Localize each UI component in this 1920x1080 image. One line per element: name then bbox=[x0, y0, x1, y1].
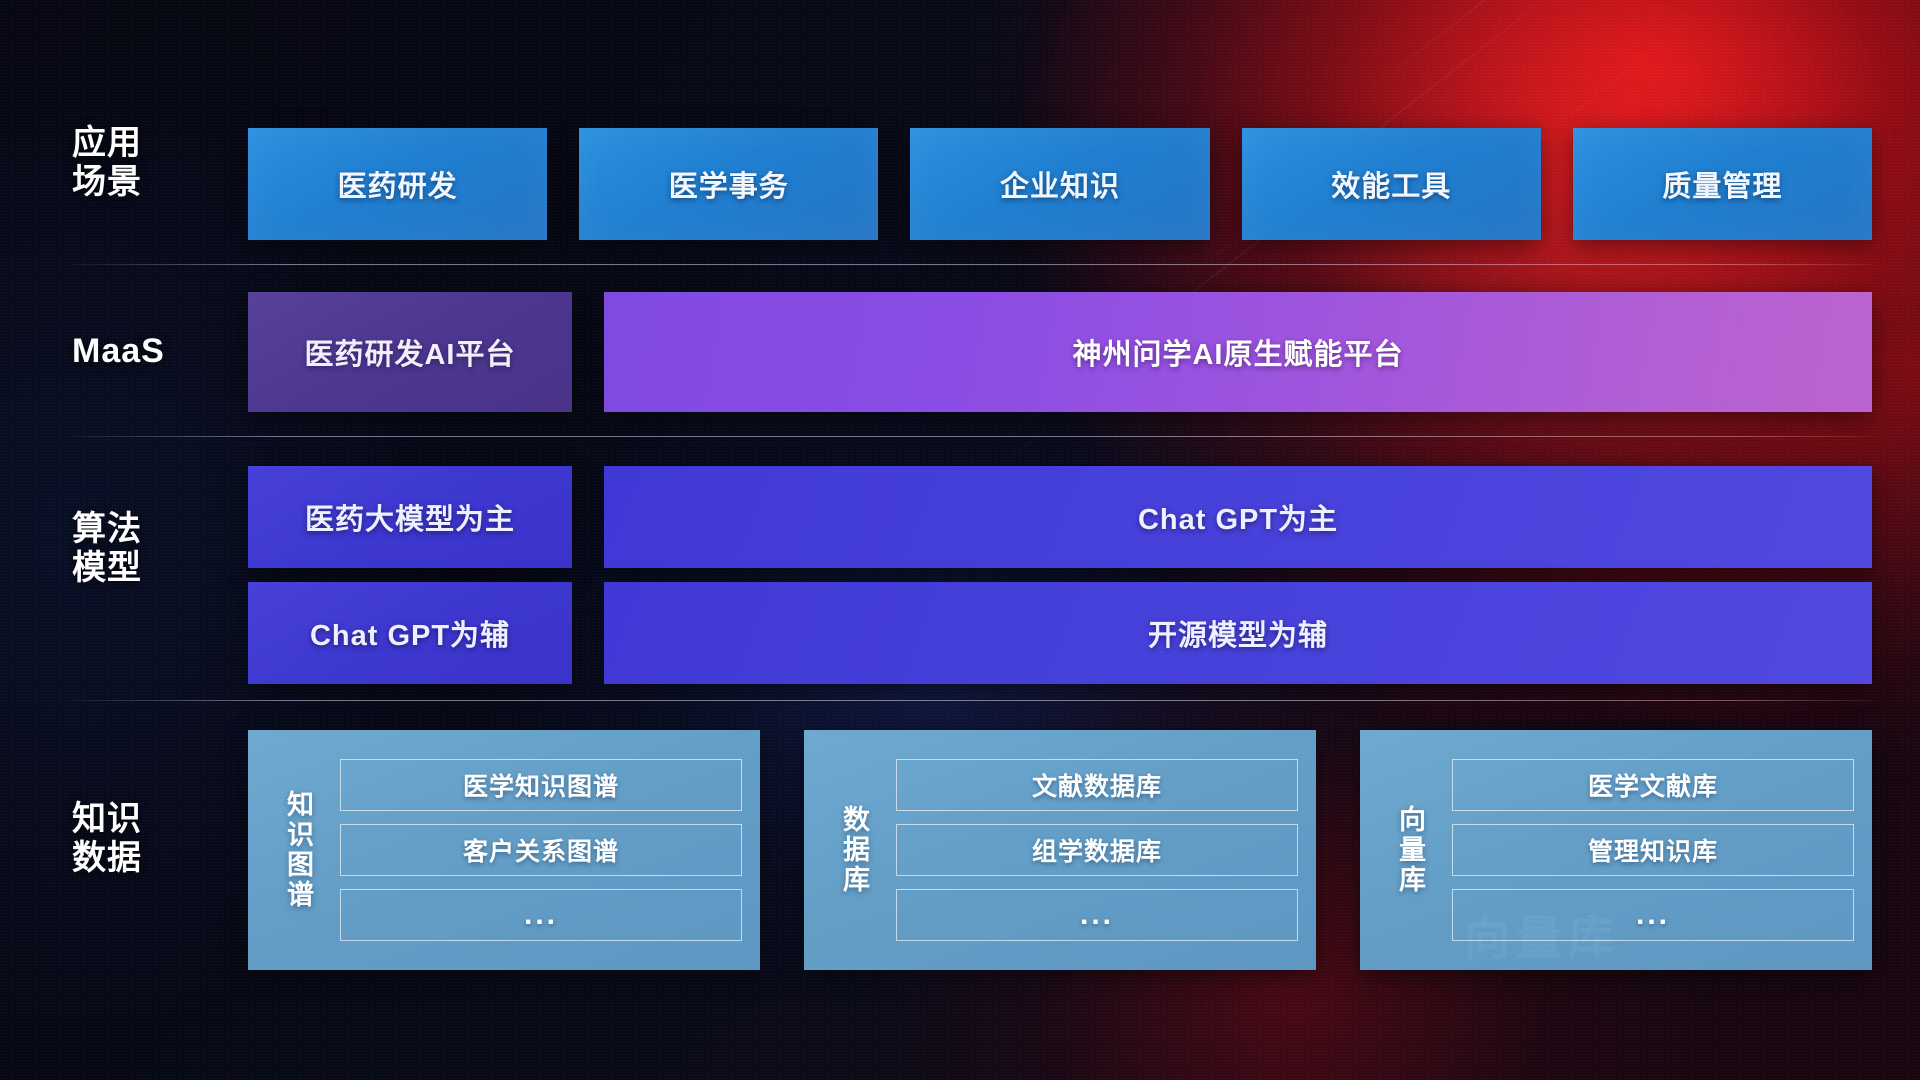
maas-card-label: 医药研发AI平台 bbox=[304, 331, 515, 373]
tier-label-maas: MaaS bbox=[72, 332, 252, 371]
app-card-efficiency-tools[interactable]: 效能工具 bbox=[1242, 128, 1541, 240]
knowledge-group-label: 向量库 bbox=[1378, 744, 1440, 956]
knowledge-group-label: 数据库 bbox=[822, 744, 884, 956]
app-card-drug-rd[interactable]: 医药研发 bbox=[248, 128, 547, 240]
algo-bar-chatgpt-primary[interactable]: Chat GPT为主 bbox=[604, 466, 1872, 568]
divider-after-algorithm bbox=[72, 700, 1872, 701]
algorithm-row-primary: 医药大模型为主 Chat GPT为主 bbox=[248, 466, 1872, 568]
maas-bar-label: 神州问学AI原生赋能平台 bbox=[1072, 331, 1403, 373]
app-card-label: 医学事务 bbox=[669, 163, 789, 205]
app-card-label: 效能工具 bbox=[1331, 163, 1451, 205]
maas-tier: 医药研发AI平台 神州问学AI原生赋能平台 bbox=[248, 292, 1872, 412]
knowledge-group-vector-store: 向量库 医学文献库 管理知识库 ... bbox=[1360, 730, 1872, 970]
divider-after-maas bbox=[72, 436, 1872, 437]
tier-label-line: 知识 bbox=[72, 800, 252, 839]
knowledge-item-medical-graph[interactable]: 医学知识图谱 bbox=[340, 759, 742, 811]
knowledge-item-more[interactable]: ... bbox=[896, 889, 1298, 941]
algo-bar-label: Chat GPT为主 bbox=[1138, 496, 1338, 538]
algorithm-model-tier: 医药大模型为主 Chat GPT为主 Chat GPT为辅 开源模型为辅 bbox=[248, 466, 1872, 684]
architecture-diagram: 应用 场景 医药研发 医学事务 企业知识 效能工具 质量管理 MaaS 医药研发… bbox=[0, 0, 1920, 1080]
algorithm-row-secondary: Chat GPT为辅 开源模型为辅 bbox=[248, 582, 1872, 684]
app-card-label: 质量管理 bbox=[1662, 163, 1782, 205]
application-scenario-cards: 医药研发 医学事务 企业知识 效能工具 质量管理 bbox=[248, 128, 1872, 240]
knowledge-group-knowledge-graph: 知识图谱 医学知识图谱 客户关系图谱 ... bbox=[248, 730, 760, 970]
app-card-medical-affairs[interactable]: 医学事务 bbox=[579, 128, 878, 240]
tier-label-application-scenario: 应用 场景 bbox=[72, 124, 252, 203]
tier-label-algorithm-model: 算法 模型 bbox=[72, 510, 252, 589]
knowledge-item-literature-db[interactable]: 文献数据库 bbox=[896, 759, 1298, 811]
knowledge-data-groups: 知识图谱 医学知识图谱 客户关系图谱 ... 数据库 文献数据库 组学数据库 .… bbox=[248, 730, 1872, 970]
knowledge-group-items: 医学文献库 管理知识库 ... bbox=[1452, 744, 1854, 956]
knowledge-item-more[interactable]: ... bbox=[1452, 889, 1854, 941]
tier-label-line: 应用 bbox=[72, 124, 252, 163]
app-card-label: 医药研发 bbox=[338, 163, 458, 205]
knowledge-group-label: 知识图谱 bbox=[266, 744, 328, 956]
algo-bar-opensource-secondary[interactable]: 开源模型为辅 bbox=[604, 582, 1872, 684]
tier-label-line: MaaS bbox=[72, 332, 252, 371]
knowledge-group-items: 文献数据库 组学数据库 ... bbox=[896, 744, 1298, 956]
knowledge-group-items: 医学知识图谱 客户关系图谱 ... bbox=[340, 744, 742, 956]
divider-after-application bbox=[72, 264, 1872, 265]
app-card-enterprise-knowledge[interactable]: 企业知识 bbox=[910, 128, 1209, 240]
algo-card-chatgpt-secondary[interactable]: Chat GPT为辅 bbox=[248, 582, 572, 684]
knowledge-item-customer-graph[interactable]: 客户关系图谱 bbox=[340, 824, 742, 876]
knowledge-item-more[interactable]: ... bbox=[340, 889, 742, 941]
knowledge-group-database: 数据库 文献数据库 组学数据库 ... bbox=[804, 730, 1316, 970]
algo-bar-label: 开源模型为辅 bbox=[1148, 612, 1328, 654]
tier-label-line: 数据 bbox=[72, 839, 252, 878]
app-card-quality-management[interactable]: 质量管理 bbox=[1573, 128, 1872, 240]
knowledge-item-omics-db[interactable]: 组学数据库 bbox=[896, 824, 1298, 876]
app-card-label: 企业知识 bbox=[1000, 163, 1120, 205]
tier-label-knowledge-data: 知识 数据 bbox=[72, 800, 252, 879]
algo-card-label: 医药大模型为主 bbox=[305, 496, 515, 538]
maas-bar-shenzhou-platform[interactable]: 神州问学AI原生赋能平台 bbox=[604, 292, 1872, 412]
algo-card-label: Chat GPT为辅 bbox=[310, 612, 510, 654]
algo-card-pharma-llm-primary[interactable]: 医药大模型为主 bbox=[248, 466, 572, 568]
maas-card-drug-ai-platform[interactable]: 医药研发AI平台 bbox=[248, 292, 572, 412]
knowledge-item-management-knowledge[interactable]: 管理知识库 bbox=[1452, 824, 1854, 876]
tier-label-line: 模型 bbox=[72, 549, 252, 588]
tier-label-line: 场景 bbox=[72, 163, 252, 202]
tier-label-line: 算法 bbox=[72, 510, 252, 549]
knowledge-item-medical-literature[interactable]: 医学文献库 bbox=[1452, 759, 1854, 811]
